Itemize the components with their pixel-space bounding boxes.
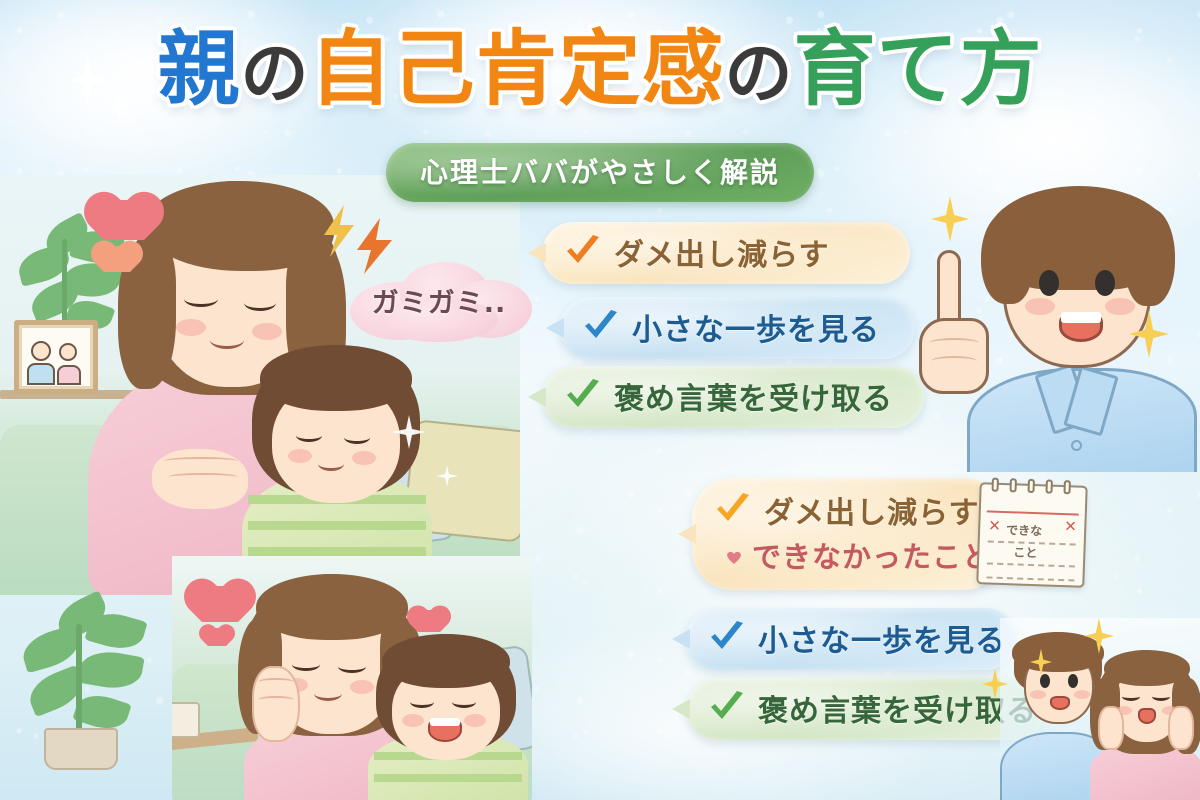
page-title: 親の自己肯定感の育て方 (0, 26, 1200, 115)
illustration-couple-man-woman (1000, 618, 1200, 800)
check-icon (582, 310, 620, 344)
heart-icon (202, 586, 238, 622)
heart-icon (208, 628, 226, 646)
checklist-top-label-0: ダメ出し減らす (614, 230, 830, 274)
title-segment-4: 育て方 (794, 22, 1043, 117)
illustration-smiling-man-pointing-up (905, 172, 1200, 472)
title-block: 親の自己肯定感の育て方 (0, 26, 1200, 115)
checklist-top-label-1: 小さな一歩を見る (632, 305, 880, 349)
notepad-line-1: できな (1006, 521, 1043, 539)
checklist-top-item-1[interactable]: 小さな一歩を見る (560, 297, 915, 359)
notepad-x-mark: ✕ (988, 518, 1001, 533)
bubble-tail (678, 524, 696, 544)
heart-icon (418, 610, 440, 632)
checklist-top-item-0[interactable]: ダメ出し減らす (542, 222, 910, 284)
heart-icon (104, 246, 130, 272)
sparkle-icon (436, 465, 458, 491)
check-icon (564, 379, 602, 413)
family-photo-frame (14, 320, 98, 394)
bubble-tail (528, 387, 546, 407)
subtitle-banner: 心理士ババがやさしく解説 (386, 143, 814, 202)
check-icon (708, 691, 746, 725)
checklist-top-label-2: 褒め言葉を受け取る (614, 374, 893, 418)
checklist-bottom-label-0: ダメ出し減らす (764, 488, 980, 532)
small-heart-icon (726, 549, 742, 562)
check-icon (564, 235, 602, 269)
infographic-poster: ガミガミ.. 親の自己肯定感の育て方 心理士ババがやさしく解説 (0, 0, 1200, 800)
sparkle-icon (66, 56, 110, 108)
checklist-bottom-item-0[interactable]: ダメ出し減らす できなかったこと (692, 478, 1004, 590)
sparkle-icon (106, 92, 132, 126)
bubble-tail (546, 318, 564, 338)
subtitle-text: 心理士ババがやさしく解説 (420, 151, 780, 191)
sparkle-icon (982, 668, 1008, 704)
sparkle-icon (1084, 618, 1114, 658)
checklist-bottom-label-1: 小さな一歩を見る (758, 616, 1006, 660)
sparkle-icon (1030, 648, 1052, 680)
notepad-x-mark-2: ✕ (1064, 519, 1077, 534)
checklist-bottom-sublabel-0: できなかったこと (752, 534, 992, 576)
sparkle-icon (392, 415, 426, 453)
speech-bubble-text: ガミガミ.. (344, 258, 534, 342)
title-segment-2: 自己肯定感 (309, 22, 724, 117)
check-icon (708, 621, 746, 655)
title-segment-1: の (240, 35, 309, 114)
notepad: ✕ できな ✕ こと (976, 482, 1087, 588)
title-segment-0: 親 (157, 22, 240, 117)
houseplant (14, 600, 164, 770)
title-segment-3: の (725, 35, 794, 114)
check-icon (714, 493, 752, 527)
checklist-top-item-2[interactable]: 褒め言葉を受け取る (542, 366, 924, 428)
bubble-tail (672, 629, 690, 649)
sparkle-icon (1129, 310, 1169, 362)
speech-bubble-gamigami: ガミガミ.. (344, 258, 534, 342)
checklist-bottom-item-1[interactable]: 小さな一歩を見る (686, 608, 1016, 670)
heart-icon (104, 200, 144, 240)
illustration-mother-hugging-child (0, 175, 520, 595)
notepad-line-2: こと (1013, 543, 1038, 561)
sparkle-icon (931, 196, 969, 246)
bubble-tail (672, 699, 690, 719)
